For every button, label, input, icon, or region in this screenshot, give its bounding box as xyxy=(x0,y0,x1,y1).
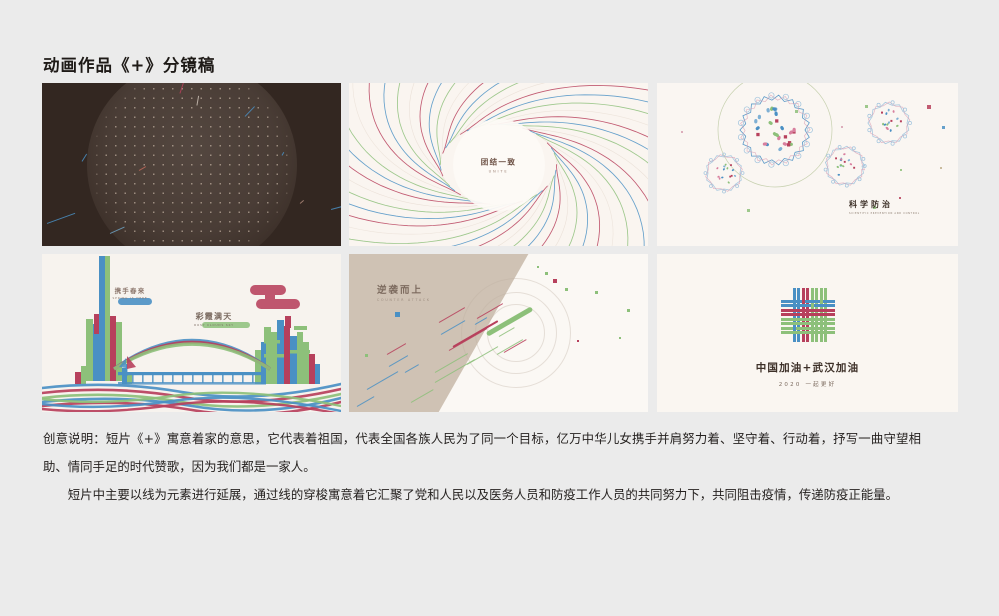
confetti-square xyxy=(795,110,798,113)
logo-strip xyxy=(811,318,814,321)
city-bar xyxy=(192,375,194,383)
virus-inner-dot xyxy=(730,164,732,166)
virus-spike xyxy=(852,147,855,150)
logo-strip xyxy=(820,327,823,330)
city-bar xyxy=(252,375,254,383)
prevention-label-cn: 科学防治 xyxy=(849,199,920,210)
confetti-square xyxy=(940,167,942,169)
virus-spike xyxy=(824,168,827,171)
panel-city[interactable]: 携手春来 SPRING IS HERE 彩霞满天 ROSY CLOUDS SKY xyxy=(42,254,341,412)
streak-line xyxy=(300,200,305,204)
confetti-square xyxy=(619,337,621,339)
virus-membrane-outer xyxy=(734,89,815,171)
confetti-square xyxy=(865,105,868,108)
virus-inner-dot xyxy=(721,176,724,178)
virus-inner-dot xyxy=(881,112,883,114)
globe-dot-matrix xyxy=(92,83,292,246)
virus-inner-dot xyxy=(896,124,899,127)
virus-spike xyxy=(736,185,739,188)
virus-inner-dot xyxy=(716,167,719,170)
confetti-square xyxy=(545,272,548,275)
prevention-label: 科学防治 SCIENTIFIC PREVENTION AND CONTROL xyxy=(849,199,920,215)
city-bar xyxy=(271,332,277,384)
city-bar xyxy=(132,375,134,383)
logo-strip xyxy=(797,304,800,307)
city-bar xyxy=(315,364,320,384)
logo-strip xyxy=(820,300,823,303)
logo-strip xyxy=(793,300,796,303)
city-bar xyxy=(222,375,224,383)
city-bar xyxy=(172,375,174,383)
confetti-square xyxy=(747,209,750,212)
confetti-square xyxy=(565,288,568,291)
virus-inner-dot xyxy=(837,174,840,176)
city-label-clouds: 彩霞满天 ROSY CLOUDS SKY xyxy=(186,311,242,327)
logo-strip xyxy=(802,300,805,303)
city-bar xyxy=(264,340,280,344)
virus-spike xyxy=(827,154,830,157)
logo-strip xyxy=(781,309,835,312)
virus-inner-dot xyxy=(844,161,846,163)
virus-spike xyxy=(709,158,712,161)
counterattack-label-en: COUNTER ATTACK xyxy=(377,298,431,302)
virus-inner-dot xyxy=(896,117,899,120)
virus-spike xyxy=(723,190,726,193)
virus-inner-dot xyxy=(890,129,892,132)
confetti-square xyxy=(537,266,539,268)
bridge-arch xyxy=(114,344,270,369)
virus-spike xyxy=(704,172,707,175)
virus-inner-dot xyxy=(768,120,774,125)
virus-inner-dot xyxy=(755,125,761,130)
city-label-clouds-cn: 彩霞满天 xyxy=(186,311,242,322)
streak-line xyxy=(47,213,76,224)
virus-spike xyxy=(741,172,744,175)
virus-inner-dot xyxy=(787,143,790,146)
creative-description: 创意说明：短片《+》寓意着家的意思，它代表着祖国，代表全国各族人民为了同一个目标… xyxy=(43,425,921,509)
city-bar xyxy=(152,375,154,383)
virus-spike xyxy=(877,103,880,106)
blue-marker-square xyxy=(395,312,400,317)
virus-spike xyxy=(845,184,848,187)
city-label-spring: 携手春来 SPRING IS HERE xyxy=(104,285,156,300)
description-paragraph-2: 短片中主要以线为元素进行延展，通过线的穿梭寓意着它汇聚了党和人民以及医务人员和防… xyxy=(43,481,921,509)
panel-counterattack[interactable]: 逆袭而上 COUNTER ATTACK xyxy=(349,254,648,412)
virus-spike xyxy=(858,178,861,181)
confetti-square xyxy=(595,291,598,294)
logo-strip xyxy=(781,327,835,330)
city-bar xyxy=(118,382,266,385)
logo-strip xyxy=(781,322,835,325)
description-paragraph-1: 创意说明：短片《+》寓意着家的意思，它代表着祖国，代表全国各族人民为了同一个目标… xyxy=(43,425,921,481)
city-bar xyxy=(285,316,291,328)
virus-inner-dot xyxy=(782,142,787,147)
page-title: 动画作品《+》分镜稿 xyxy=(43,52,215,76)
virus-inner-dot xyxy=(734,175,737,178)
confetti-square xyxy=(553,279,557,283)
city-bar xyxy=(290,350,310,354)
city-bar xyxy=(303,342,309,384)
virus-spike xyxy=(891,142,894,145)
virus-inner-dot xyxy=(892,110,894,113)
virus-inner-dot xyxy=(729,176,731,178)
city-bar xyxy=(255,350,261,384)
virus-inner-dot xyxy=(890,120,892,122)
unite-label-en: UNITE xyxy=(481,169,517,173)
logo-strip xyxy=(824,331,827,334)
logo-subtitle: 2020 一起更好 xyxy=(779,380,837,388)
virus-inner-dot xyxy=(756,133,759,136)
virus-inner-dot xyxy=(766,108,770,113)
prevention-label-en: SCIENTIFIC PREVENTION AND CONTROL xyxy=(849,212,920,215)
city-bar xyxy=(309,354,315,384)
virus-graphic xyxy=(657,83,958,246)
virus-inner-dot xyxy=(775,119,778,122)
city-label-spring-en: SPRING IS HERE xyxy=(104,296,156,300)
plus-logo-icon xyxy=(777,284,839,346)
city-bar xyxy=(99,256,105,381)
virus-inner-dot xyxy=(853,167,855,169)
virus-inner-dot xyxy=(723,168,726,171)
virus-inner-dot xyxy=(835,157,837,159)
virus-spike xyxy=(908,121,911,124)
panel-logo[interactable]: 中国加油+武汉加油 2020 一起更好 xyxy=(657,254,958,412)
city-label-spring-cn: 携手春来 xyxy=(104,285,156,295)
city-bar xyxy=(294,326,307,330)
logo-strip xyxy=(811,304,814,307)
panel-globe[interactable] xyxy=(42,83,341,246)
city-bar xyxy=(105,256,110,381)
logo-strip xyxy=(793,327,796,330)
city-label-clouds-en: ROSY CLOUDS SKY xyxy=(186,323,242,327)
virus-inner-dot xyxy=(900,120,902,122)
virus-inner-dot xyxy=(847,159,850,162)
confetti-square xyxy=(365,354,368,357)
city-bar xyxy=(284,326,290,384)
city-bar xyxy=(202,375,204,383)
confetti-square xyxy=(577,340,579,342)
panel-prevention[interactable]: 科学防治 SCIENTIFIC PREVENTION AND CONTROL xyxy=(657,83,958,246)
streak-line xyxy=(331,206,341,210)
city-bar xyxy=(277,320,284,384)
virus-inner-dot xyxy=(849,163,852,166)
spiral-arm xyxy=(349,83,474,201)
virus-spike xyxy=(838,145,841,148)
city-bar xyxy=(262,375,264,383)
spiral-arm xyxy=(523,128,648,246)
city-bar xyxy=(232,375,234,383)
virus-inner-dot xyxy=(836,166,839,169)
city-bar xyxy=(162,375,164,383)
city-bar xyxy=(142,375,144,383)
unite-label: 团结一致 UNITE xyxy=(481,156,517,173)
city-bar xyxy=(118,372,266,375)
logo-strip xyxy=(781,318,835,321)
logo-strip xyxy=(781,300,835,303)
virus-spike xyxy=(877,139,880,142)
city-bar xyxy=(297,332,303,384)
city-bar xyxy=(264,354,284,358)
virus-spike xyxy=(868,114,871,117)
virus-spike xyxy=(903,108,906,111)
confetti-square xyxy=(927,105,931,109)
confetti-square xyxy=(841,126,843,128)
virus-spike xyxy=(903,135,906,138)
virus-inner-dot xyxy=(843,153,846,156)
logo-strip xyxy=(802,309,805,312)
virus-inner-dot xyxy=(778,146,784,151)
city-bar xyxy=(122,375,124,383)
city-bar xyxy=(182,375,184,383)
virus-inner-dot xyxy=(780,125,785,131)
logo-strip xyxy=(815,322,818,325)
unite-label-cn: 团结一致 xyxy=(481,156,517,167)
virus-spike xyxy=(736,158,739,161)
confetti-square xyxy=(942,126,945,129)
virus-inner-dot xyxy=(719,177,721,179)
cloud-shape xyxy=(250,285,300,309)
virus-spike xyxy=(709,185,712,188)
city-bar xyxy=(110,316,116,381)
panel-unite[interactable]: 团结一致 UNITE xyxy=(349,83,648,246)
counterattack-label-cn: 逆袭而上 xyxy=(377,282,431,296)
city-bar xyxy=(212,375,214,383)
virus-inner-dot xyxy=(758,115,762,120)
virus-membrane xyxy=(825,146,865,185)
storyboard-page: 动画作品《+》分镜稿 团结一致 UNITE 科学防治 xyxy=(0,0,999,616)
city-bar xyxy=(81,366,86,384)
logo-strip xyxy=(781,304,835,307)
counterattack-label: 逆袭而上 COUNTER ATTACK xyxy=(377,282,431,302)
city-bar xyxy=(86,319,93,381)
virus-inner-dot xyxy=(885,112,888,115)
logo-strip xyxy=(806,313,809,316)
virus-inner-dot xyxy=(727,181,730,184)
confetti-square xyxy=(900,169,902,171)
virus-membrane-outer xyxy=(822,143,868,189)
city-bar xyxy=(94,314,99,334)
city-bar xyxy=(290,336,297,384)
virus-inner-dot xyxy=(726,167,728,170)
city-bar xyxy=(75,372,81,384)
virus-inner-dot xyxy=(784,135,787,138)
virus-inner-dot xyxy=(774,111,778,116)
confetti-square xyxy=(681,131,683,133)
city-graphic xyxy=(42,254,341,412)
confetti-square xyxy=(627,309,630,312)
city-bar xyxy=(242,375,244,383)
virus-spike xyxy=(891,101,894,104)
virus-spike xyxy=(832,180,835,183)
virus-inner-dot xyxy=(888,109,890,112)
virus-inner-dot xyxy=(754,119,757,124)
storyboard-grid: 团结一致 UNITE 科学防治 SCIENTIFIC PREVENTION AN… xyxy=(42,83,958,412)
virus-spike xyxy=(862,157,865,160)
logo-title-cn: 中国加油+武汉加油 xyxy=(756,360,860,375)
